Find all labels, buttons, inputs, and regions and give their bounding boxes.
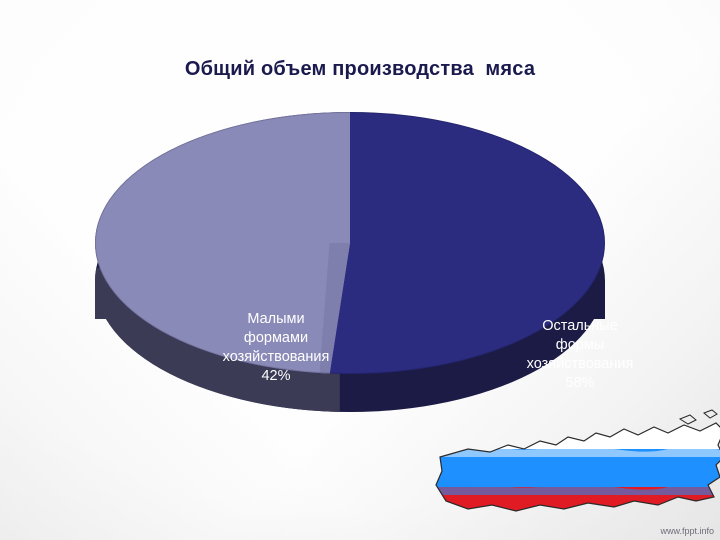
watermark-footer: www.fppt.info	[660, 526, 714, 536]
pie-label-small-forms: Малыми формами хозяйствования 42%	[191, 310, 361, 386]
pie-label-other-forms: Остальные формы хозяйствования 58%	[495, 317, 665, 393]
slide-canvas: Общий объем производства мяса Малыми фор…	[0, 0, 720, 540]
page-title: Общий объем производства мяса	[0, 58, 720, 81]
russia-map-flag-decoration	[420, 395, 720, 540]
russia-map-icon	[428, 405, 720, 525]
pie-chart: Малыми формами хозяйствования 42% Осталь…	[95, 112, 605, 412]
